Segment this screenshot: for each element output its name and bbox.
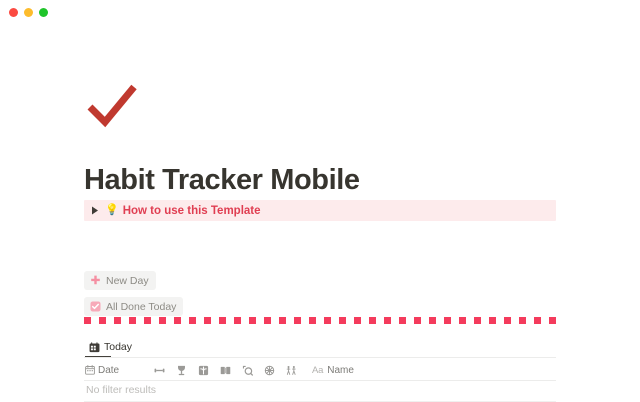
lightbulb-icon: 💡 bbox=[105, 205, 119, 216]
triangle-right-icon[interactable] bbox=[87, 206, 103, 215]
checkbox-checked-icon bbox=[89, 301, 101, 313]
people-walking-icon bbox=[286, 365, 297, 376]
calendar-icon bbox=[84, 365, 95, 376]
table-header-rule bbox=[84, 380, 556, 381]
column-label-date: Date bbox=[98, 365, 119, 376]
column-header-read[interactable] bbox=[220, 360, 242, 380]
column-header-name[interactable]: Aa Name bbox=[312, 360, 402, 380]
column-label-name: Name bbox=[327, 365, 354, 376]
dashed-divider bbox=[84, 317, 556, 324]
column-header-reflect[interactable] bbox=[242, 360, 264, 380]
tabs-baseline bbox=[84, 357, 556, 358]
thought-bubble-icon bbox=[242, 365, 253, 376]
page-title[interactable]: Habit Tracker Mobile bbox=[84, 162, 360, 198]
text-aa-icon: Aa bbox=[312, 365, 323, 376]
column-header-walk[interactable] bbox=[286, 360, 312, 380]
how-to-use-toggle[interactable]: 💡 How to use this Template bbox=[84, 200, 556, 221]
column-header-workout[interactable] bbox=[154, 360, 176, 380]
page-content: Habit Tracker Mobile 💡 How to use this T… bbox=[0, 26, 640, 400]
empty-state-message: No filter results bbox=[86, 384, 156, 396]
all-done-today-label: All Done Today bbox=[106, 301, 176, 313]
column-header-plant[interactable] bbox=[198, 360, 220, 380]
new-day-button[interactable]: New Day bbox=[84, 271, 156, 290]
callout-label: How to use this Template bbox=[123, 205, 261, 217]
window-controls bbox=[9, 8, 48, 17]
all-done-today-button[interactable]: All Done Today bbox=[84, 297, 183, 316]
column-header-meditate[interactable] bbox=[264, 360, 286, 380]
app-window: Habit Tracker Mobile 💡 How to use this T… bbox=[0, 0, 640, 400]
wine-glass-icon bbox=[176, 365, 187, 376]
tab-today[interactable]: Today bbox=[84, 337, 136, 357]
minimize-window-button[interactable] bbox=[24, 8, 33, 17]
maximize-window-button[interactable] bbox=[39, 8, 48, 17]
dumbbell-icon bbox=[154, 365, 165, 376]
column-header-date[interactable]: Date bbox=[84, 360, 154, 380]
new-day-label: New Day bbox=[106, 275, 149, 287]
close-window-button[interactable] bbox=[9, 8, 18, 17]
column-header-drink[interactable] bbox=[176, 360, 198, 380]
window-titlebar bbox=[0, 0, 640, 26]
checkmark-icon[interactable] bbox=[86, 84, 138, 128]
database-view-tabs: Today bbox=[84, 337, 556, 357]
snowflake-icon bbox=[264, 365, 275, 376]
plus-icon bbox=[89, 275, 101, 287]
open-book-icon bbox=[220, 365, 231, 376]
herb-icon bbox=[198, 365, 209, 376]
calendar-icon bbox=[88, 341, 100, 353]
table-header-row: Date bbox=[84, 360, 556, 380]
tab-today-label: Today bbox=[104, 341, 132, 353]
